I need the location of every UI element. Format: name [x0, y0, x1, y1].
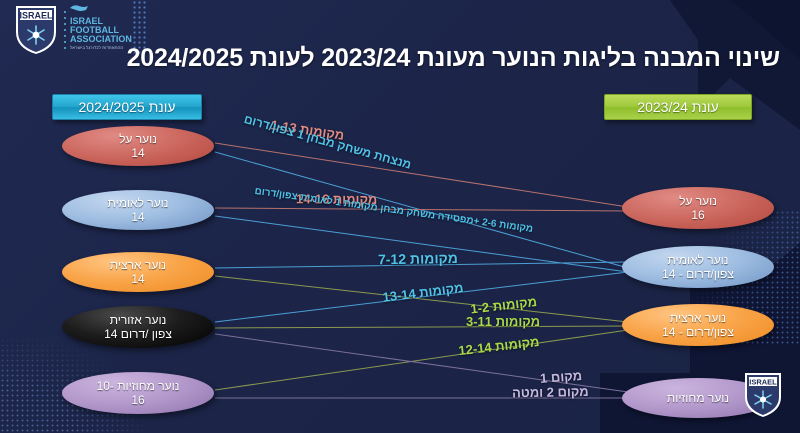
node-line2: 16: [131, 393, 144, 407]
left-node-noar-artzit[interactable]: נוער ארצית 14: [62, 252, 214, 292]
node-line2: צפון/דרום - 14: [662, 325, 734, 339]
node-line2: 16: [691, 208, 704, 222]
node-line1: נוער לאומית: [668, 253, 729, 267]
node-line2: 14: [131, 210, 144, 224]
right-node-noar-al[interactable]: נוער על 16: [622, 187, 774, 229]
node-line1: נוער לאומית: [108, 196, 169, 210]
node-line1: נוער על: [679, 194, 717, 208]
node-line1: נוער מחוזיות: [667, 391, 729, 405]
left-node-noar-mehozit[interactable]: נוער מחוזיות -10 16: [62, 372, 214, 414]
israel-football-association-badge-icon: ISRAEL: [742, 371, 784, 419]
node-line1: נוער ארצית: [110, 258, 166, 272]
node-line1: נוער ארצית: [670, 311, 726, 325]
right-node-noar-artzit[interactable]: נוער ארצית צפון/דרום - 14: [622, 304, 774, 346]
left-node-noar-ezorit[interactable]: נוער אזורית צפון /דרום 14: [62, 306, 214, 348]
svg-text:ISRAEL: ISRAEL: [749, 378, 777, 387]
node-line2: צפון/דרום - 14: [662, 267, 734, 281]
node-line2: 14: [131, 272, 144, 286]
edge-label-mehozit-down: מקום 2 ומטה: [512, 384, 589, 400]
node-line1: נוער על: [119, 132, 157, 146]
edge-label-artzit-3-11: מקומות 3-11: [466, 314, 540, 329]
right-node-noar-leumit[interactable]: נוער לאומית צפון/דרום - 14: [622, 246, 774, 288]
node-line2: 14: [131, 146, 144, 160]
edge-label-leumit-to-leumit: מקומות 7-12: [378, 250, 458, 267]
slide-canvas: ISRAEL ISRAEL FOOTBALL ASSOCIATION ההתאח…: [0, 0, 800, 433]
node-line1: נוער אזורית: [110, 313, 167, 327]
node-line1: נוער מחוזיות -10: [97, 379, 180, 393]
left-node-noar-al[interactable]: נוער על 14: [62, 126, 214, 166]
node-line2: צפון /דרום 14: [104, 327, 172, 341]
left-node-noar-leumit[interactable]: נוער לאומית 14: [62, 190, 214, 230]
